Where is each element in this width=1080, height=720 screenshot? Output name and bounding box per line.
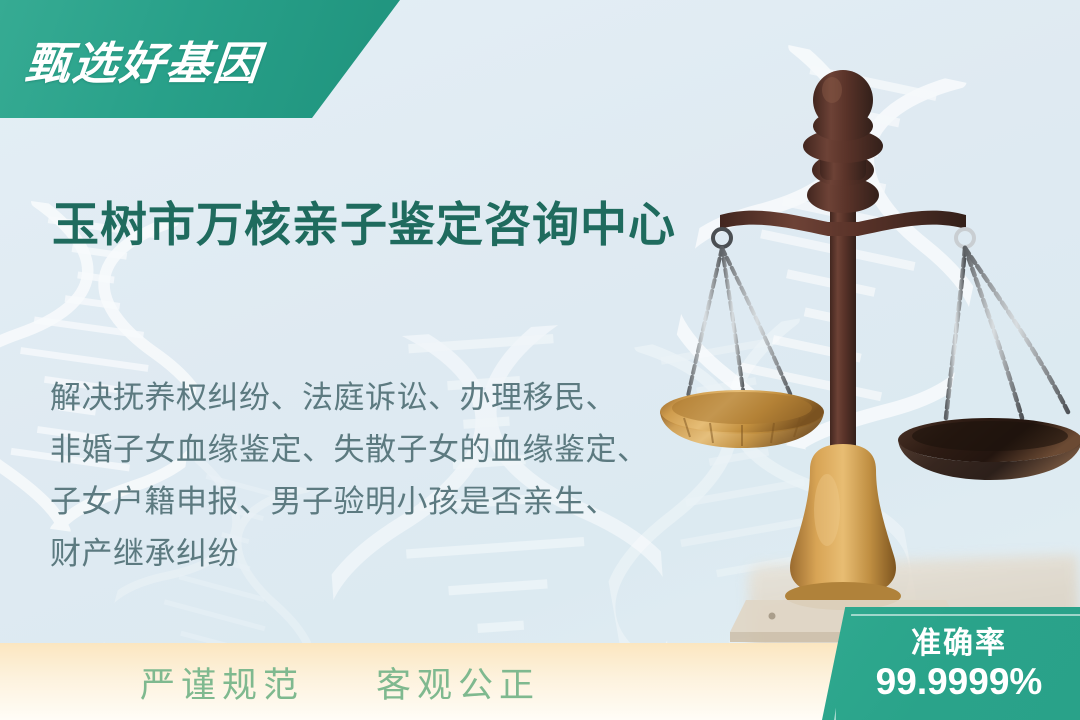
page-title: 玉树市万核亲子鉴定咨询中心 bbox=[52, 186, 676, 255]
logo-banner: 甄选好基因 bbox=[0, 0, 400, 118]
service-line: 子女户籍申报、男子验明小孩是否亲生、 bbox=[50, 476, 750, 528]
badge-content: 准确率 99.9999% bbox=[822, 607, 1080, 720]
accuracy-label: 准确率 bbox=[911, 628, 1007, 660]
slogan-group: 严谨规范 客观公正 bbox=[140, 657, 540, 708]
service-line: 财产继承纠纷 bbox=[50, 528, 750, 580]
logo-banner-inner: 甄选好基因 bbox=[0, 0, 400, 118]
accuracy-value: 99.9999% bbox=[876, 662, 1043, 703]
slogan-item: 客观公正 bbox=[376, 657, 540, 708]
brand-logo-text: 甄选好基因 bbox=[23, 27, 265, 92]
accuracy-badge: 准确率 99.9999% bbox=[822, 607, 1080, 720]
service-description: 解决抚养权纠纷、法庭诉讼、办理移民、 非婚子女血缘鉴定、失散子女的血缘鉴定、 子… bbox=[50, 372, 750, 580]
slogan-item: 严谨规范 bbox=[140, 657, 304, 708]
service-line: 非婚子女血缘鉴定、失散子女的血缘鉴定、 bbox=[50, 424, 750, 476]
promo-poster: 甄选好基因 玉树市万核亲子鉴定咨询中心 解决抚养权纠纷、法庭诉讼、办理移民、 非… bbox=[0, 0, 1080, 720]
service-line: 解决抚养权纠纷、法庭诉讼、办理移民、 bbox=[50, 372, 750, 424]
